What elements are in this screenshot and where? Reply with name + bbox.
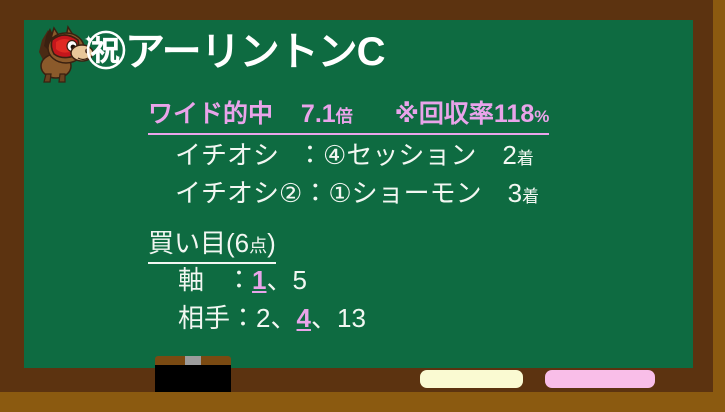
bet-number: 2 [256, 303, 270, 333]
bet-row-separator: ： [226, 265, 252, 295]
blackboard-screen: ✦ ㊗アーリントンC ワイド的中 7.1倍 ※回収率118% イチオシ：④セッシ… [0, 0, 725, 412]
page-title: ㊗アーリントンC [86, 26, 385, 78]
pick-label: イチオシ② [175, 178, 302, 208]
bet-delimiter: 、 [311, 303, 337, 333]
pick-separator: ： [302, 178, 328, 208]
bet-number-highlighted: 4 [297, 303, 311, 333]
pick-place: 2 [502, 140, 516, 170]
bet-row-partners: 相手：2、4、13 [178, 303, 366, 333]
bet-number-highlighted: 1 [252, 265, 266, 295]
bets-count: 6 [235, 228, 249, 258]
result-odds-unit: 倍 [336, 107, 353, 126]
bet-row-axis: 軸：1、5 [178, 265, 307, 295]
bet-row-label: 軸 [178, 265, 204, 295]
recovery-rate-unit: % [534, 107, 549, 126]
eraser-tab [185, 356, 201, 365]
pick-row: イチオシ：④セッション2着 [175, 140, 534, 174]
pick-row: イチオシ②：①ショーモン3着 [175, 178, 539, 212]
result-headline-main: ワイド的中 [148, 100, 273, 128]
bet-number: 13 [337, 303, 366, 333]
bets-title-main: 買い目( [148, 228, 235, 258]
recovery-rate-label: 回収率 [419, 100, 494, 128]
bet-row-label: 相手 [178, 303, 230, 333]
pick-place-unit: 着 [517, 149, 534, 168]
note-mark-icon: ※ [395, 100, 419, 128]
frame-right-edge [713, 0, 725, 392]
bets-title-close: ) [267, 228, 276, 258]
result-odds-value: 7.1 [301, 100, 336, 128]
bets-count-unit: 点 [249, 236, 267, 256]
bets-title: 買い目(6点) [148, 228, 276, 264]
pick-horse: ④セッション [323, 140, 476, 170]
pick-horse: ①ショーモン [328, 178, 481, 208]
chalk-cream-icon [420, 370, 523, 388]
pick-separator: ： [297, 140, 323, 170]
bet-delimiter: 、 [271, 303, 297, 333]
bet-delimiter: 、 [267, 265, 293, 295]
result-headline: ワイド的中 7.1倍 ※回収率118% [148, 100, 549, 135]
chalk-pink-icon [545, 370, 655, 388]
pick-place-unit: 着 [522, 187, 539, 206]
bet-row-separator: ： [230, 303, 256, 333]
blackboard-eraser-icon [155, 356, 231, 392]
bet-number: 5 [293, 265, 307, 295]
recovery-rate-value: 118 [494, 100, 534, 128]
pick-place: 3 [508, 178, 522, 208]
pick-label: イチオシ [175, 140, 279, 170]
eraser-body [155, 365, 231, 392]
